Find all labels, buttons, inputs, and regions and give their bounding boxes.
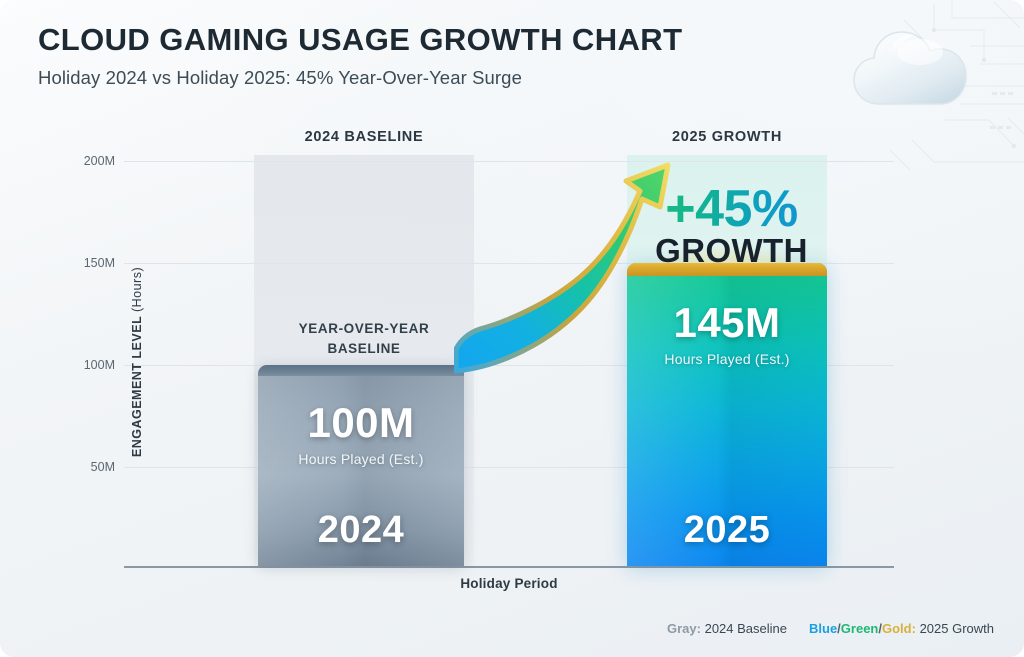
legend-gold-swatch-label: Gold: (882, 621, 916, 636)
page-subtitle: Holiday 2024 vs Holiday 2025: 45% Year-O… (38, 67, 682, 89)
y-tick-50m: 50M (91, 460, 115, 474)
x-axis-label: Holiday Period (124, 576, 894, 591)
legend-gray-swatch-label: Gray: (667, 621, 701, 636)
bar-2024-year: 2024 (258, 509, 464, 552)
baseline-caption-line2: BASELINE (254, 339, 474, 359)
bar-2024-value: 100M (258, 399, 464, 447)
bar-2025-sublabel: Hours Played (Est.) (627, 351, 827, 367)
chart-panel: CLOUD GAMING USAGE GROWTH CHART Holiday … (0, 0, 1024, 657)
growth-callout: +45% GROWTH (629, 183, 834, 269)
baseline-caption-line1: YEAR-OVER-YEAR (254, 319, 474, 339)
legend-growth-text: 2025 Growth (920, 621, 994, 636)
cloud-icon (848, 18, 976, 122)
bar-2024-cap (258, 365, 464, 376)
y-tick-150m: 150M (84, 256, 115, 270)
baseline-caption: YEAR-OVER-YEAR BASELINE (254, 319, 474, 358)
legend-item-gray: Gray: 2024 Baseline (667, 621, 787, 636)
growth-percent: +45% (629, 183, 834, 236)
y-tick-100m: 100M (84, 358, 115, 372)
plot-area: 200M 150M 100M 50M ENGAGEMENT LEVEL (Hou… (124, 155, 894, 568)
legend-green-swatch-label: Green (841, 621, 879, 636)
legend: Gray: 2024 BaselineBlue/Green/Gold: 2025… (667, 621, 994, 636)
legend-gray-text: 2024 Baseline (705, 621, 787, 636)
bar-2025-year: 2025 (627, 509, 827, 552)
y-axis-label-main: ENGAGEMENT LEVEL (130, 316, 144, 457)
bar-2024-sublabel: Hours Played (Est.) (258, 451, 464, 467)
y-tick-200m: 200M (84, 154, 115, 168)
x-axis-baseline (124, 566, 894, 568)
y-axis-label-unit: (Hours) (130, 266, 144, 311)
bar-2025-value: 145M (627, 299, 827, 347)
header: CLOUD GAMING USAGE GROWTH CHART Holiday … (38, 22, 682, 89)
bar-2024[interactable]: 100M Hours Played (Est.) 2024 (258, 365, 464, 566)
bar-2025[interactable]: 145M Hours Played (Est.) 2025 (627, 263, 827, 566)
gridline-200m (124, 161, 894, 162)
legend-blue-swatch-label: Blue (809, 621, 837, 636)
page-title: CLOUD GAMING USAGE GROWTH CHART (38, 22, 682, 58)
legend-item-growth: Blue/Green/Gold: 2025 Growth (809, 621, 994, 636)
column-header-2025: 2025 GROWTH (627, 129, 827, 145)
y-axis-label: ENGAGEMENT LEVEL (Hours) (130, 266, 144, 456)
growth-word: GROWTH (629, 234, 834, 269)
column-header-2024: 2024 BASELINE (254, 129, 474, 145)
